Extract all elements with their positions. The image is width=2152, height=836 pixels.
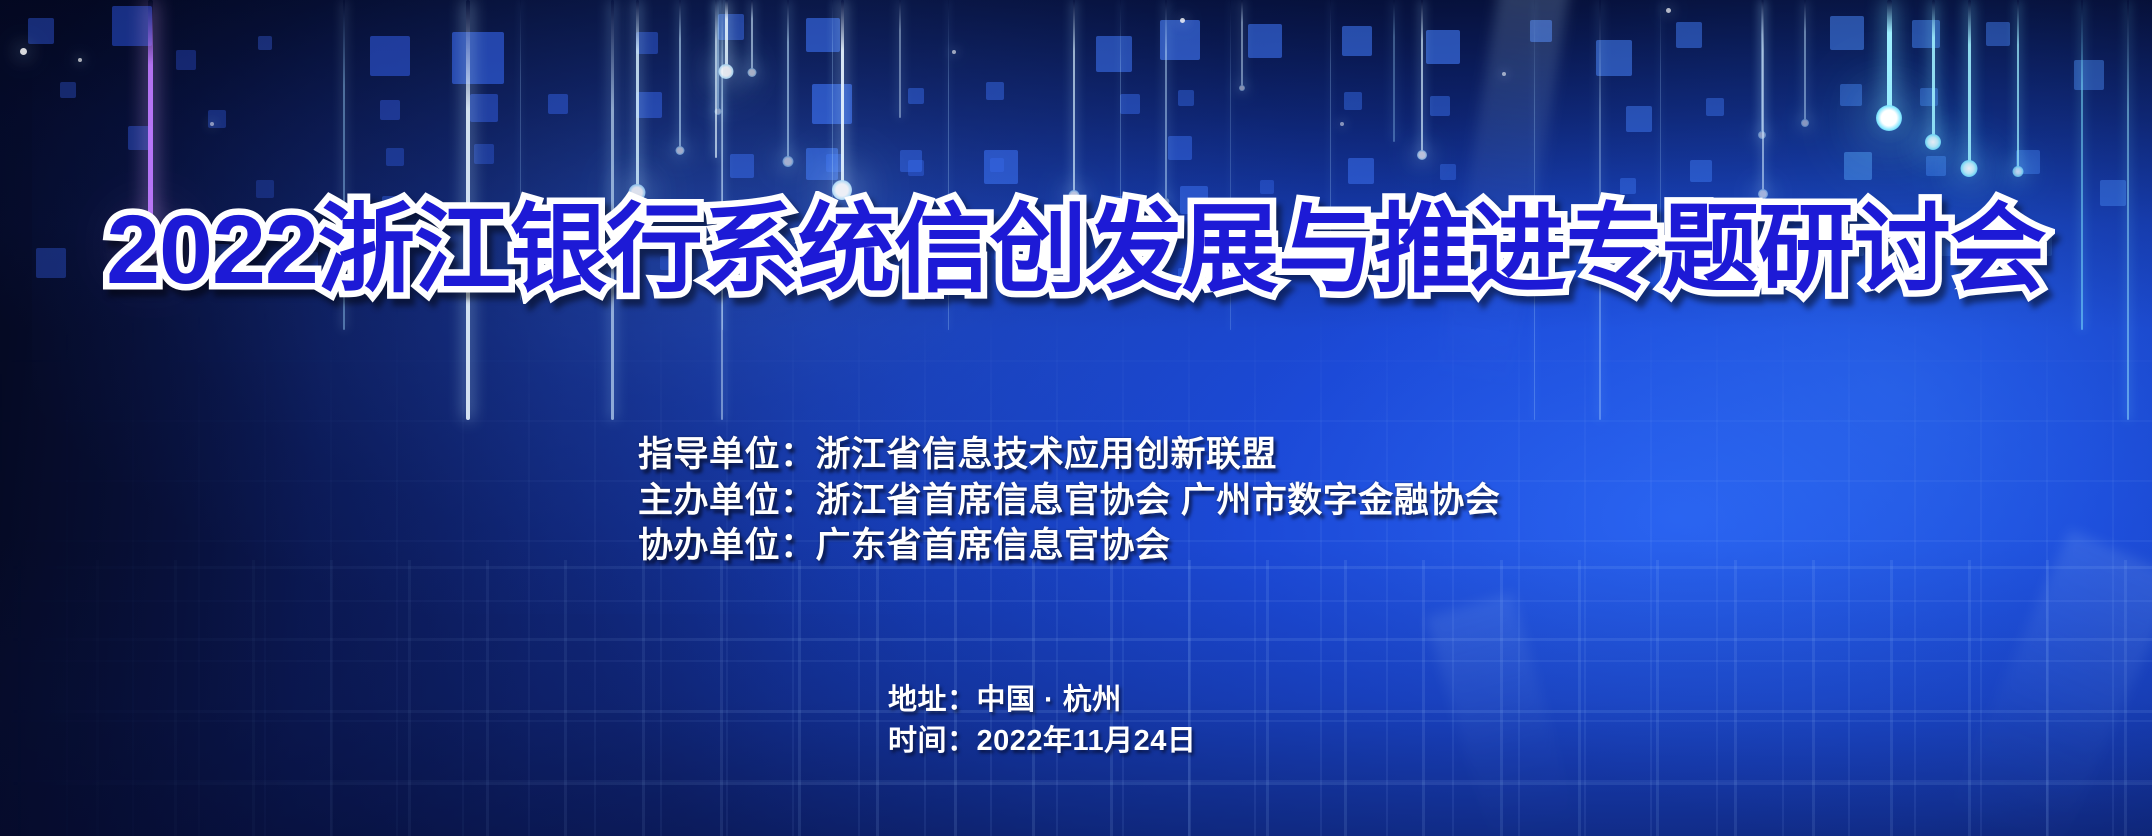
organizer-line-coorganizer: 协办单位：广东省首席信息官协会 [638,523,1500,569]
event-date: 时间：2022年11月24日 [888,721,1196,762]
event-meta-block: 地址：中国 · 杭州 时间：2022年11月24日 [888,680,1196,762]
page-title: 2022浙江银行系统信创发展与推进专题研讨会 [0,196,2152,305]
event-location: 地址：中国 · 杭州 [888,680,1196,721]
organizer-line-host: 主办单位：浙江省首席信息官协会 广州市数字金融协会 [638,478,1500,524]
conference-banner: 2022浙江银行系统信创发展与推进专题研讨会 指导单位：浙江省信息技术应用创新联… [0,0,2152,836]
organizer-line-guidance: 指导单位：浙江省信息技术应用创新联盟 [638,432,1500,478]
organizers-block: 指导单位：浙江省信息技术应用创新联盟 主办单位：浙江省首席信息官协会 广州市数字… [638,432,1500,569]
